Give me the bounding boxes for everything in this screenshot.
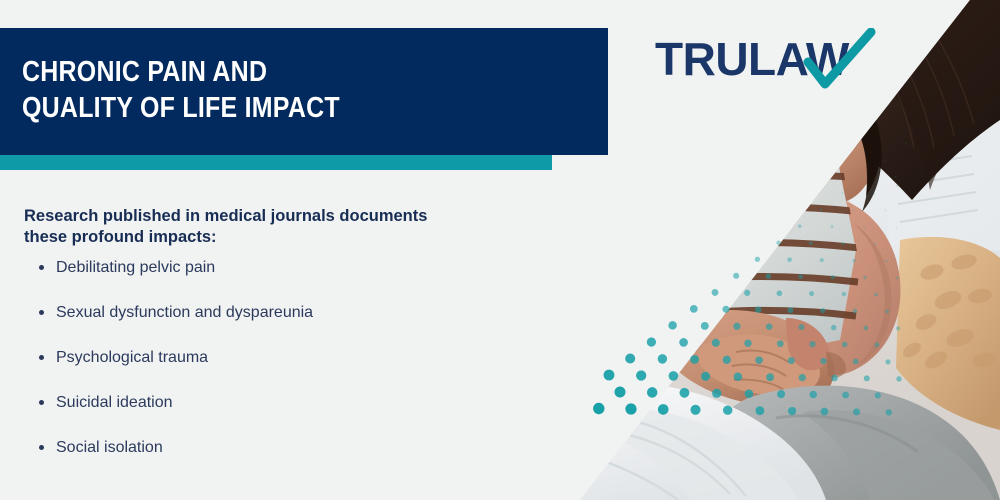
list-item: Sexual dysfunction and dyspareunia [30, 303, 530, 348]
bullet-dot-icon [39, 445, 44, 450]
page-title: CHRONIC PAIN AND QUALITY OF LIFE IMPACT [22, 54, 340, 126]
list-item: Social isolation [30, 438, 530, 483]
bullet-dot-icon [39, 310, 44, 315]
list-item: Suicidal ideation [30, 393, 530, 438]
check-icon [803, 28, 877, 92]
list-item: Debilitating pelvic pain [30, 258, 530, 303]
list-item-label: Sexual dysfunction and dyspareunia [56, 304, 313, 321]
list-item-label: Suicidal ideation [56, 394, 173, 411]
title-accent-bar [0, 155, 552, 170]
bullet-dot-icon [39, 265, 44, 270]
trulaw-logo[interactable]: TRULAW [655, 36, 849, 82]
lead-paragraph: Research published in medical journals d… [24, 206, 534, 248]
list-item-label: Debilitating pelvic pain [56, 259, 215, 276]
impacts-list: Debilitating pelvic pain Sexual dysfunct… [30, 258, 530, 483]
infographic-slide: TRULAW CHRONIC PAIN AND QUALITY OF LIFE … [0, 0, 1000, 500]
list-item-label: Social isolation [56, 439, 163, 456]
bullet-dot-icon [39, 400, 44, 405]
list-item: Psychological trauma [30, 348, 530, 393]
title-band: CHRONIC PAIN AND QUALITY OF LIFE IMPACT [0, 28, 608, 155]
bullet-dot-icon [39, 355, 44, 360]
list-item-label: Psychological trauma [56, 349, 208, 366]
